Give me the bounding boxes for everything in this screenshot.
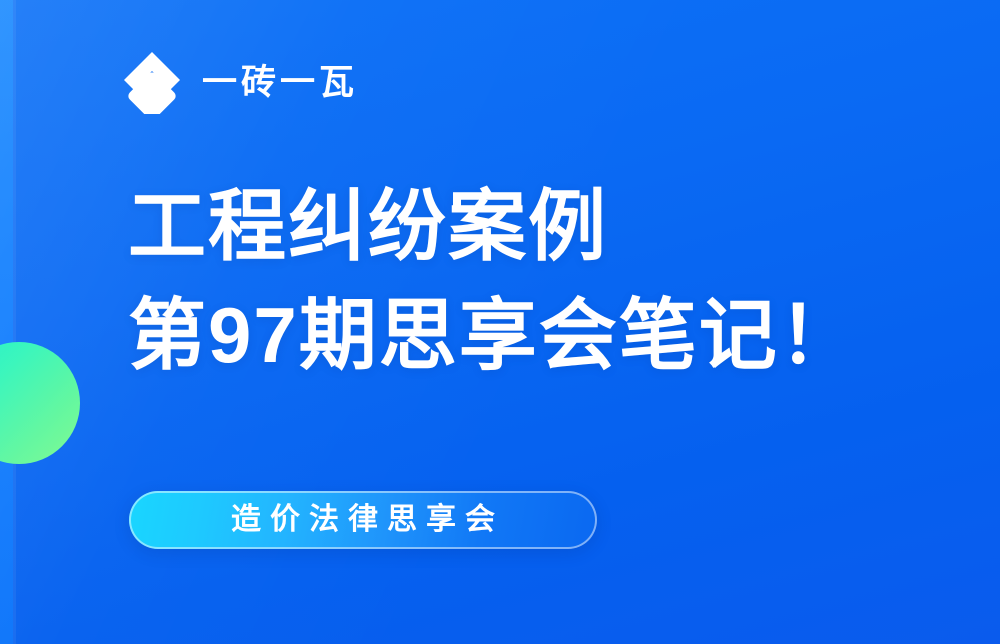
chevron-over-diamond-logo-icon xyxy=(120,50,184,114)
series-tag-pill[interactable]: 造价法律思享会 xyxy=(129,491,597,549)
brand-name: 一砖一瓦 xyxy=(202,65,358,100)
left-accent-band xyxy=(0,0,13,644)
series-tag-label: 造价法律思享会 xyxy=(222,505,504,535)
brand-lockup: 一砖一瓦 xyxy=(120,46,358,118)
green-circle-decoration xyxy=(0,342,80,464)
headline-block: 工程纠纷案例 第97期思享会笔记！ xyxy=(128,172,948,390)
left-accent-band-edge xyxy=(13,0,16,644)
poster-canvas: 一砖一瓦 工程纠纷案例 第97期思享会笔记！ 造价法律思享会 xyxy=(0,0,1000,644)
headline-line-2: 第97期思享会笔记！ xyxy=(128,281,948,390)
headline-line-1: 工程纠纷案例 xyxy=(128,172,948,281)
